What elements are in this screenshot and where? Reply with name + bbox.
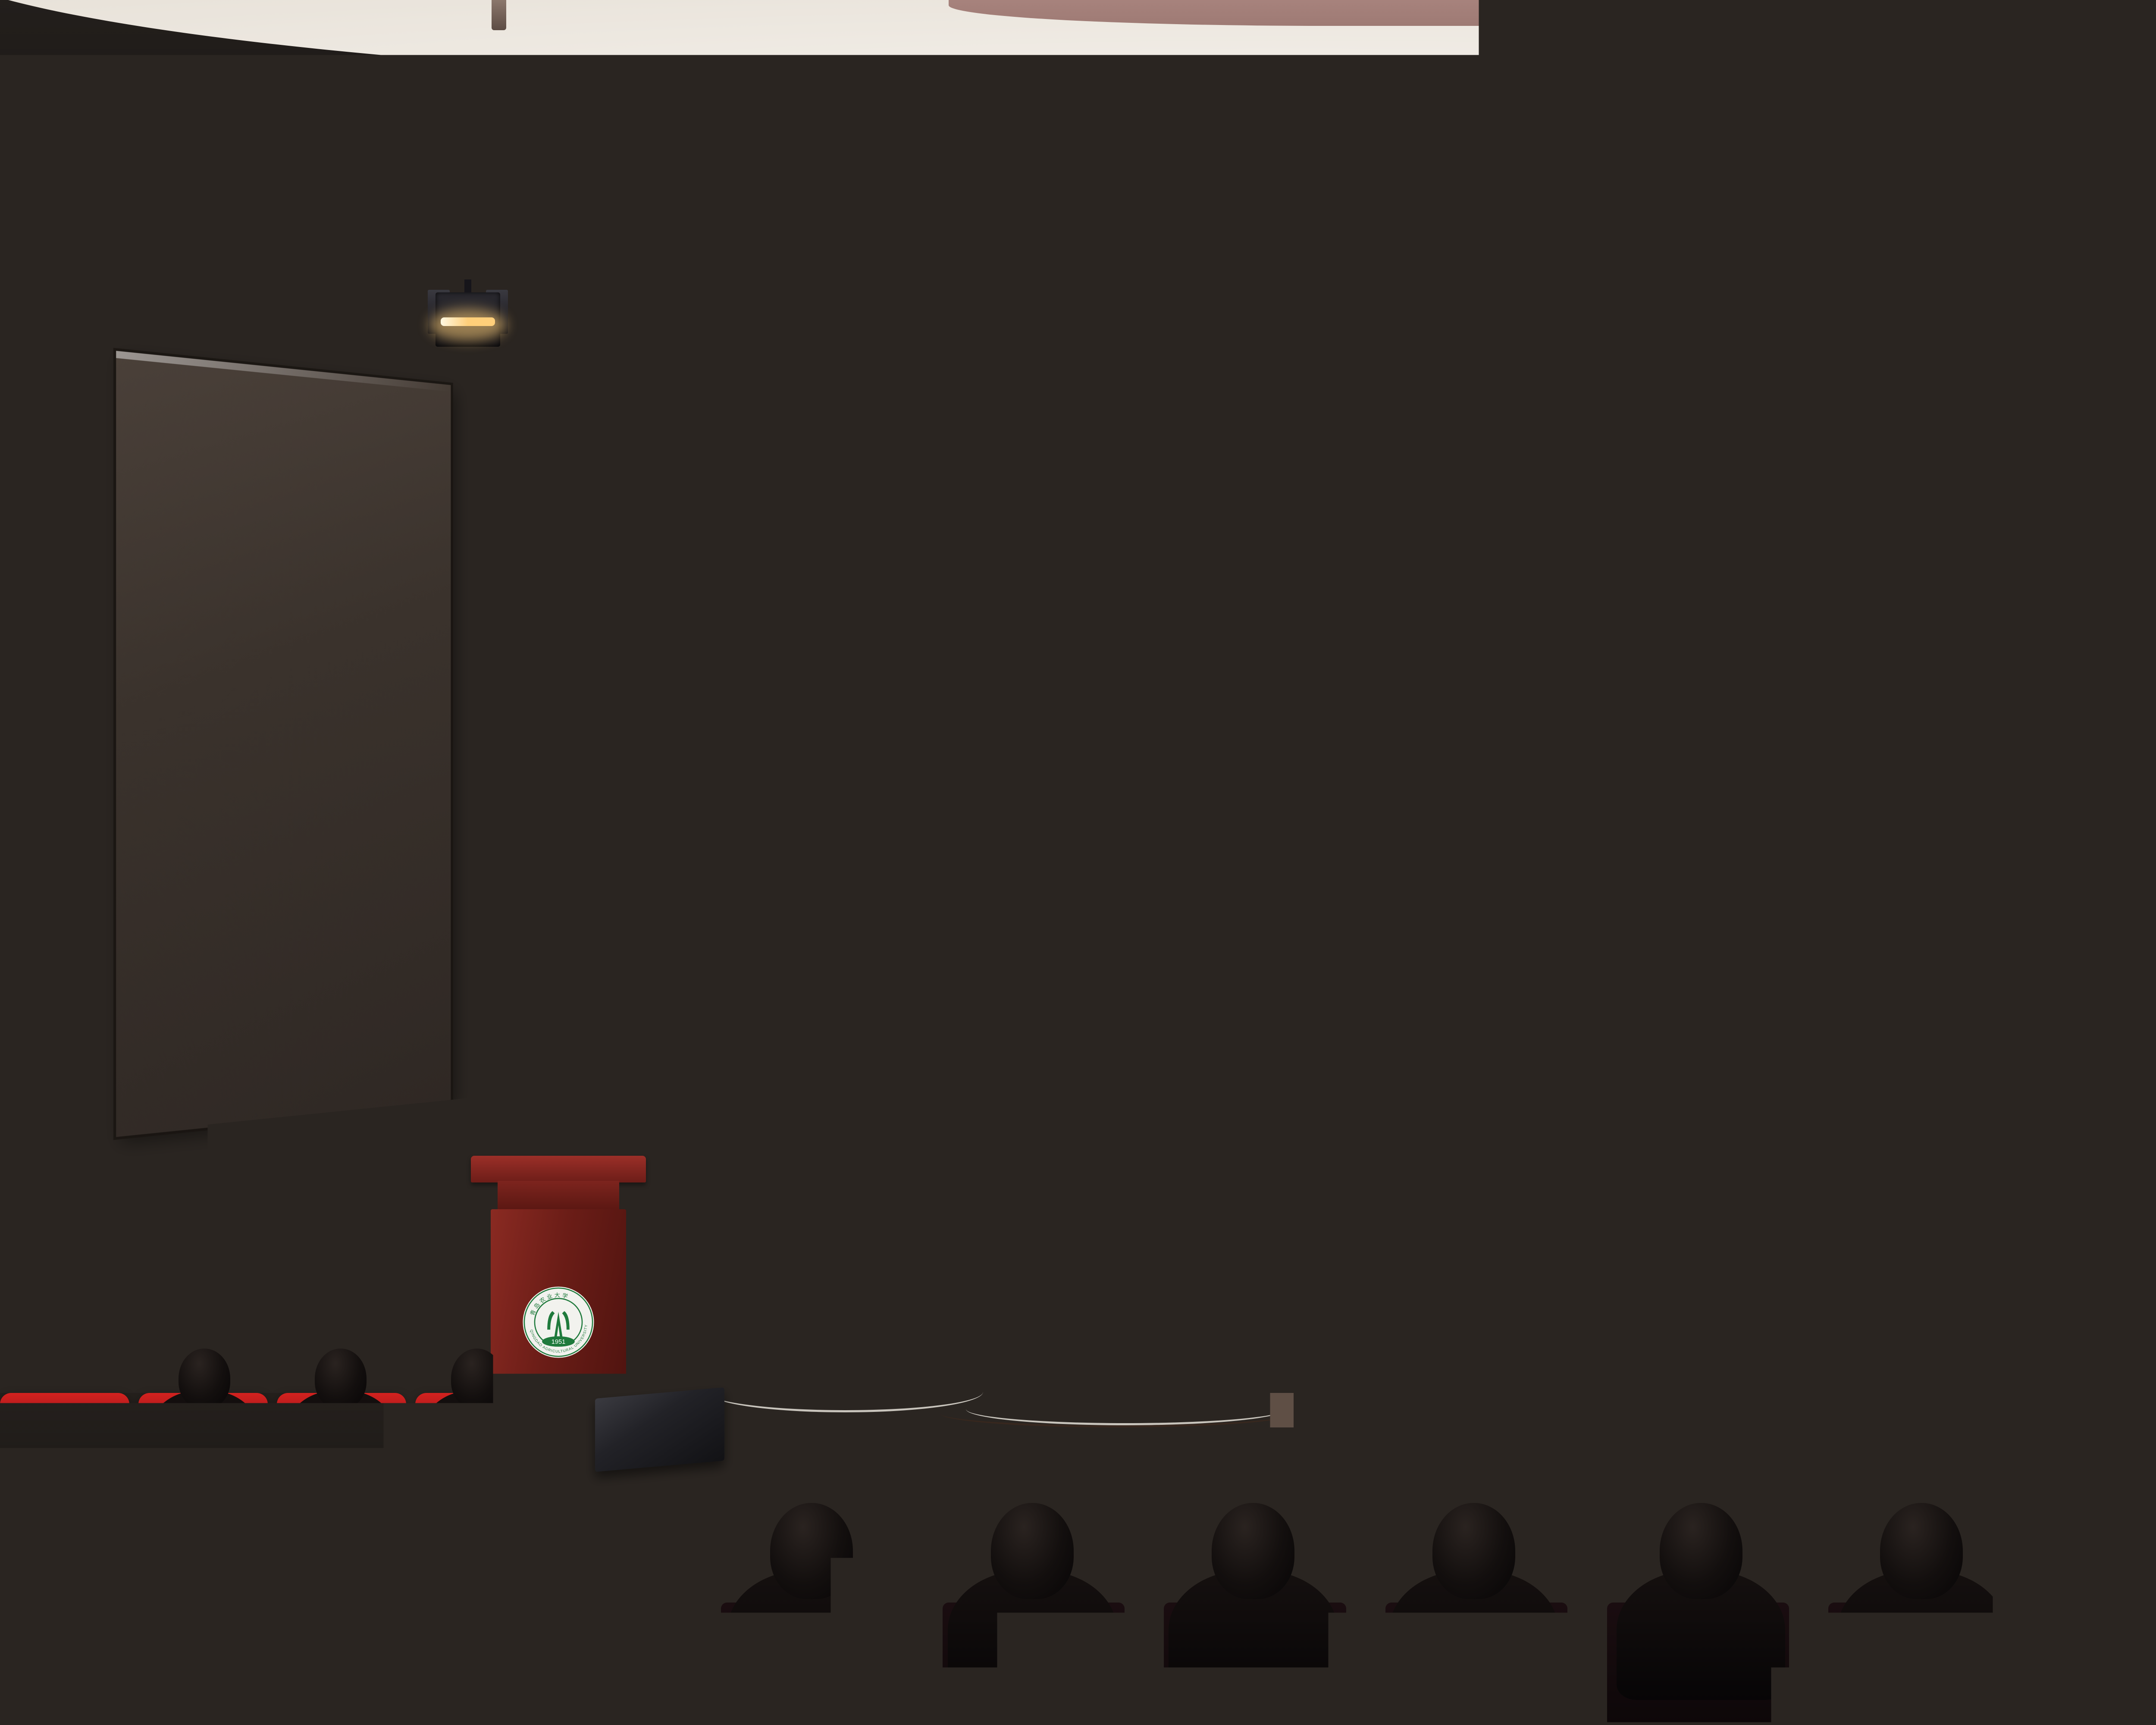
spotlight-lamp [1072, 344, 1126, 354]
audience-seat [0, 1695, 240, 1725]
stage-spotlight [1698, 279, 1762, 353]
audience-member-head [334, 1606, 438, 1725]
stage-spotlight [1066, 302, 1131, 388]
spotlight-yoke [791, 279, 798, 294]
audience-seat [1642, 1695, 1901, 1725]
stage-spotlight [593, 302, 669, 388]
spotlight-lamp [758, 317, 831, 326]
photo-tree [1871, 801, 1997, 860]
spotlight-yoke [464, 279, 471, 294]
eyeglasses-icon [680, 1052, 729, 1064]
audience-seat [1366, 1695, 1624, 1725]
exit-arrow-icon [1512, 1240, 1535, 1257]
spotlight-body [909, 292, 1007, 347]
proscenium-right [1954, 78, 2156, 280]
spotlight-yoke [1727, 279, 1733, 294]
podium-neck [498, 1181, 619, 1211]
photo-tree [1700, 801, 1792, 860]
spotlight-yoke [628, 302, 635, 317]
laptop-lid [1113, 1134, 1243, 1219]
proscenium-header [552, 78, 2070, 280]
audience-member-head [1331, 1555, 1424, 1663]
audience-member-head [991, 1503, 1074, 1599]
podium-emblem-icon: 1951 青 岛 农 业 大 学 QINGDAO AGRICULTURAL UN… [521, 1285, 595, 1359]
audience-member-head [85, 1555, 178, 1663]
audience-member-head [1660, 1503, 1742, 1599]
spotlight-yoke [2053, 302, 2060, 317]
university-logo-icon: 1951 青 岛 农 业 大 学 QINGDAO AGRICULTURAL UN… [843, 486, 917, 559]
audience-member-head [1824, 1555, 1918, 1663]
audience-member-head [986, 1400, 1048, 1472]
audience-member-head [179, 1349, 230, 1408]
audience-member-head [1697, 1349, 1749, 1408]
spotlight-lamp [1703, 317, 1757, 326]
spotlight-body [593, 315, 669, 379]
spotlight-body [751, 292, 838, 347]
audience-member-head [1485, 1400, 1548, 1472]
audience-member-head [655, 1400, 717, 1472]
spotlight-body [1066, 315, 1131, 379]
audience-member-head [1148, 1400, 1210, 1472]
spotlight-lamp [1861, 317, 1925, 326]
spotlight-lamp [1230, 317, 1294, 326]
stage-spotlight [1540, 302, 1638, 388]
audience-member-head [709, 1452, 782, 1536]
audience-member-head [315, 1349, 367, 1408]
audience-member-head [613, 1606, 717, 1725]
spotlight-body [1224, 292, 1300, 347]
stage-spotlight [436, 279, 500, 353]
stage-spotlight [2013, 302, 2100, 388]
spotlight-lamp [917, 317, 1000, 326]
audience-member-head [904, 1452, 977, 1536]
spotlight-body [2013, 315, 2100, 379]
stage-spotlight [909, 279, 1007, 353]
stage-spotlight [1382, 279, 1469, 353]
spotlight-body [1540, 315, 1638, 379]
spotlight-lamp [599, 344, 663, 354]
slide-title: 植物医学学院 [734, 649, 1557, 732]
spotlight-body [1698, 292, 1762, 347]
audience-member-head [730, 1349, 782, 1408]
audience-member-head [867, 1349, 918, 1408]
audience-member-head [1425, 1349, 1476, 1408]
presentation-slide: 1951 青 岛 农 业 大 学 QINGDAO AGRICULTURAL UN… [681, 433, 2009, 1193]
spotlight-yoke [955, 279, 962, 294]
audience-member-head [451, 1349, 503, 1408]
stage-spotlight [1224, 279, 1300, 353]
spotlight-body [1382, 292, 1469, 347]
audience-member-head [594, 1349, 646, 1408]
svg-text:1951: 1951 [552, 1339, 566, 1345]
spotlight-lamp [1548, 344, 1630, 354]
ceiling-downlight-stub [492, 0, 506, 30]
audience-member-head [1165, 1606, 1268, 1725]
spotlight-yoke [1422, 279, 1429, 294]
campus-photo [1438, 517, 2009, 1109]
photo-reflection [1797, 872, 1843, 1026]
stage-spotlight [1855, 279, 1931, 353]
podium-top [471, 1156, 646, 1182]
bottle-cap [1295, 1151, 1305, 1164]
audience-member-head [1009, 1349, 1061, 1408]
audience-member-head [132, 1452, 204, 1536]
audience-member-head [1432, 1503, 1515, 1599]
audience-member-head [817, 1400, 879, 1472]
exit-sign [1500, 1230, 1547, 1267]
audience-member-head [1817, 1400, 1879, 1472]
photo-reflection [1712, 872, 1997, 1002]
spotlight-yoke [1259, 279, 1266, 294]
laptop-screen [1121, 1142, 1235, 1211]
spotlight-body [436, 292, 500, 347]
exit-sign-face [1504, 1234, 1543, 1263]
auditorium-scene: 1951 青 岛 农 业 大 学 QINGDAO AGRICULTURAL UN… [0, 0, 2156, 1725]
spotlight-body [1855, 292, 1931, 347]
wall-seam [2001, 1095, 2156, 1097]
table-top [1038, 1220, 1514, 1240]
photo-tree [1615, 783, 1695, 860]
audience-seat [1919, 1695, 2156, 1725]
slide-presenter: 张清明 [734, 923, 1557, 962]
spotlight-lamp [2020, 344, 2093, 354]
slide-subtitle: 农药学系介绍 [734, 817, 1557, 860]
spotlight-lamp [1389, 317, 1462, 326]
audience-member-head [1294, 1452, 1366, 1536]
photo-tree [1780, 807, 1883, 860]
stage-baseboard [638, 1164, 2044, 1190]
ceiling-downlight-stub [2053, 9, 2067, 39]
audience-member-head [1977, 1349, 2028, 1408]
slide-date-badge: 2024.10.12 [940, 1056, 1095, 1088]
spotlight-lamp [441, 317, 495, 326]
laptop[interactable] [1113, 1134, 1243, 1225]
audience-member-head [1212, 1503, 1294, 1599]
audience-member-head [1146, 1349, 1197, 1408]
led-screen[interactable]: 1951 青 岛 农 业 大 学 QINGDAO AGRICULTURAL UN… [675, 427, 2015, 1199]
svg-text:1951: 1951 [871, 538, 888, 546]
spotlight-yoke [1586, 302, 1592, 317]
spotlight-yoke [1095, 302, 1102, 317]
audience-member-head [326, 1452, 399, 1536]
stage-spotlight [751, 279, 838, 353]
audience-member-head [514, 1452, 587, 1536]
audience-member-head [892, 1606, 996, 1725]
audience-member-head [1979, 1400, 2041, 1472]
acoustic-panel-left [116, 351, 451, 1137]
spotlight-yoke [1890, 279, 1897, 294]
